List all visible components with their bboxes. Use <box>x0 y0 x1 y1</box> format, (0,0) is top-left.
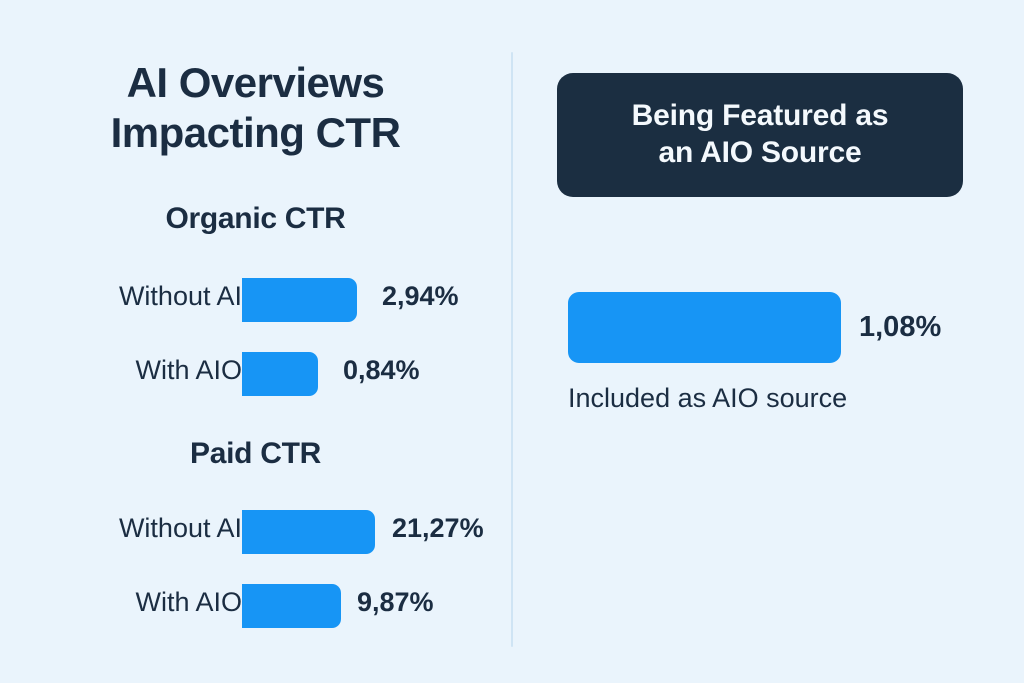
bar-caption-included-as-aio-source: Included as AIO source <box>568 383 847 414</box>
bar-row-organic-with-aio: With AIO 0,84% <box>0 344 511 396</box>
section-heading-paid: Paid CTR <box>0 437 511 471</box>
bar-label-organic-without-ai: Without AI <box>119 270 242 322</box>
bar-value-paid-with-aio: 9,87% <box>357 576 434 628</box>
left-panel: AI Overviews Impacting CTR Organic CTR W… <box>0 0 511 683</box>
page-title: AI Overviews Impacting CTR <box>0 58 511 159</box>
bar-label-paid-with-aio: With AIO <box>135 576 242 628</box>
bar-paid-with-aio <box>242 584 341 628</box>
section-heading-organic: Organic CTR <box>0 202 511 236</box>
aio-source-badge-card: Being Featured as an AIO Source <box>557 73 963 197</box>
bar-row-paid-without-ai: Without AI 21,27% <box>0 502 511 554</box>
bar-organic-without-ai <box>242 278 357 322</box>
bar-label-organic-with-aio: With AIO <box>135 344 242 396</box>
right-panel: Being Featured as an AIO Source 1,08% In… <box>511 0 1024 683</box>
bar-value-paid-without-ai: 21,27% <box>392 502 484 554</box>
bar-label-paid-without-ai: Without AI <box>119 502 242 554</box>
bar-value-organic-without-ai: 2,94% <box>382 270 459 322</box>
infographic-canvas: AI Overviews Impacting CTR Organic CTR W… <box>0 0 1024 683</box>
bar-paid-without-ai <box>242 510 375 554</box>
aio-source-badge-text: Being Featured as an AIO Source <box>632 98 889 171</box>
bar-row-paid-with-aio: With AIO 9,87% <box>0 576 511 628</box>
bar-organic-with-aio <box>242 352 318 396</box>
bar-included-as-aio-source <box>568 292 841 363</box>
bar-row-organic-without-ai: Without AI 2,94% <box>0 270 511 322</box>
bar-value-organic-with-aio: 0,84% <box>343 344 420 396</box>
bar-value-included-as-aio-source: 1,08% <box>859 292 941 363</box>
